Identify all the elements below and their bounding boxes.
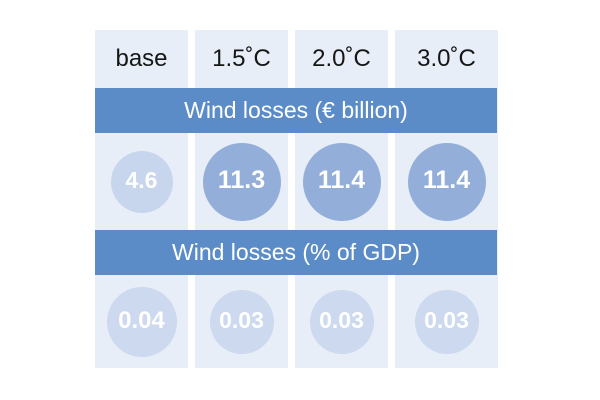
section-band-wind-losses-billion: Wind losses (€ billion)	[95, 88, 497, 133]
bubble-billion-base: 4.6	[111, 151, 173, 213]
bubble-value-gdp-1-5c: 0.03	[219, 309, 264, 332]
wind-losses-bubble-table: base 1.5˚C 2.0˚C 3.0˚C Wind losses (€ bi…	[95, 30, 498, 368]
bubble-gdp-1-5c: 0.03	[210, 290, 274, 354]
bubble-gdp-2-0c: 0.03	[310, 290, 374, 354]
bubble-billion-1-5c: 11.3	[203, 143, 281, 221]
column-header-1-5c: 1.5˚C	[195, 30, 288, 88]
bubble-cell-billion-base: 4.6	[95, 133, 188, 230]
bubble-row-wind-losses-gdp: 0.04 0.03 0.03 0.03	[95, 275, 498, 368]
bubble-cell-billion-2-0c: 11.4	[295, 133, 388, 230]
bubble-cell-gdp-base: 0.04	[95, 275, 188, 368]
bubble-gdp-3-0c: 0.03	[415, 290, 479, 354]
bubble-cell-gdp-2-0c: 0.03	[295, 275, 388, 368]
column-header-3-0c: 3.0˚C	[395, 30, 498, 88]
bubble-billion-3-0c: 11.4	[408, 143, 486, 221]
bubble-value-gdp-base: 0.04	[118, 309, 165, 333]
bubble-cell-billion-3-0c: 11.4	[395, 133, 498, 230]
bubble-cell-gdp-1-5c: 0.03	[195, 275, 288, 368]
bubble-cell-billion-1-5c: 11.3	[195, 133, 288, 230]
bubble-row-wind-losses-billion: 4.6 11.3 11.4 11.4	[95, 133, 498, 230]
bubble-billion-2-0c: 11.4	[303, 143, 381, 221]
bubble-value-gdp-3-0c: 0.03	[424, 309, 469, 332]
bubble-value-billion-base: 4.6	[126, 169, 158, 192]
bubble-gdp-base: 0.04	[107, 287, 177, 357]
bubble-cell-gdp-3-0c: 0.03	[395, 275, 498, 368]
bubble-value-billion-3-0c: 11.4	[423, 168, 470, 193]
section-band-wind-losses-gdp: Wind losses (% of GDP)	[95, 230, 497, 275]
bubble-value-gdp-2-0c: 0.03	[319, 309, 364, 332]
column-header-base: base	[95, 30, 188, 88]
column-header-2-0c: 2.0˚C	[295, 30, 388, 88]
bubble-value-billion-1-5c: 11.3	[218, 168, 265, 193]
table-header-row: base 1.5˚C 2.0˚C 3.0˚C	[95, 30, 498, 88]
bubble-value-billion-2-0c: 11.4	[318, 168, 365, 193]
